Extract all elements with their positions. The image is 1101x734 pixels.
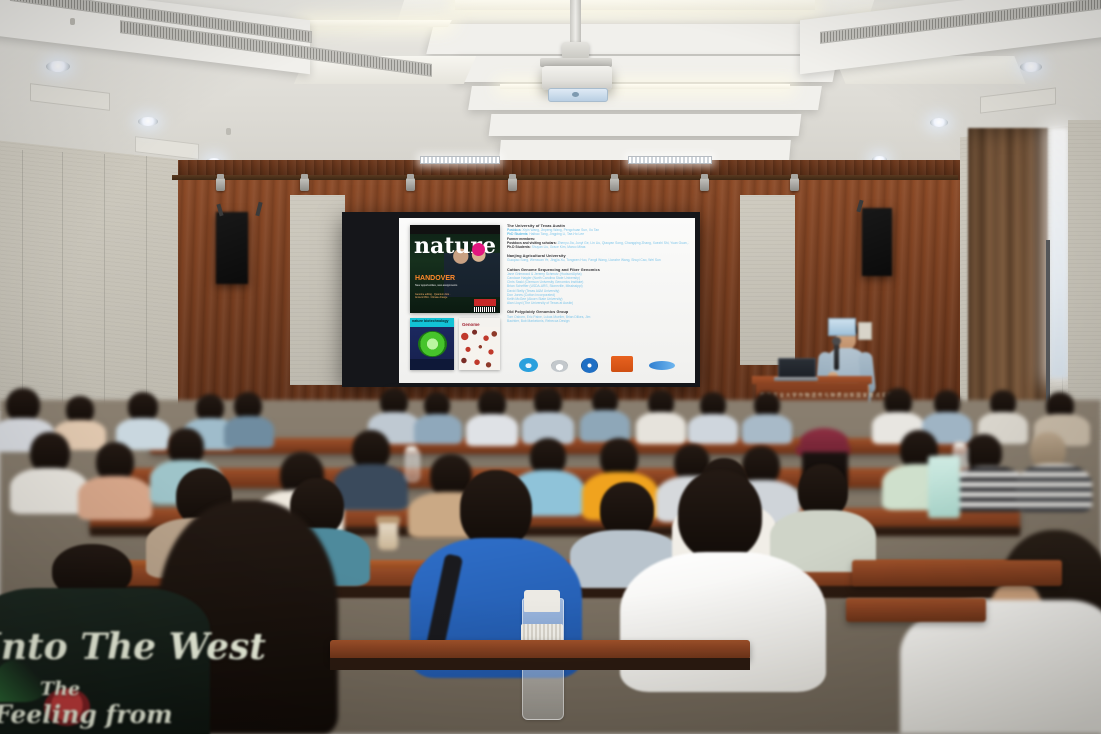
nature-cover-teasers: Genome editing · Quantum dots · Ancient … — [415, 293, 457, 300]
slide-line-text: Bachtier, Bob Markelonis, Rebecca Design — [507, 319, 689, 323]
track-spotlight — [406, 178, 415, 191]
ceiling-cove-light — [455, 0, 815, 10]
foreground-head — [678, 470, 762, 560]
slide-line-text: Shuyan Liu, Grace Kim, Marco Miras — [532, 245, 586, 249]
track-light-rail — [172, 175, 958, 180]
tshirt-text-line2: The — [40, 678, 80, 700]
wall-speaker-left — [216, 212, 248, 284]
track-spotlight — [508, 178, 517, 191]
institution-logo-4 — [611, 356, 633, 372]
cover-artwork — [459, 327, 500, 370]
ceiling-downlight — [930, 118, 948, 127]
track-spotlight — [610, 178, 619, 191]
nature-biotechnology-cover: nature biotechnology — [410, 318, 454, 370]
nature-cover-subhead: New opportunities, new assignments — [415, 284, 461, 288]
lecture-hall-photo: nature HANDOVER New opportunities, new a… — [0, 0, 1101, 734]
projector-mount-bracket — [562, 42, 589, 59]
wall-fabric-strip — [290, 195, 345, 385]
water-bottle-cap-foreground — [524, 590, 560, 612]
projection-screen-surface[interactable]: nature HANDOVER New opportunities, new a… — [399, 218, 695, 383]
track-spotlight — [216, 178, 225, 191]
bench-front-near — [330, 640, 750, 660]
ceiling-slab — [452, 56, 837, 82]
slide-line-text: Haibao Tang, Jingping Li, Tae-Ho Lee — [529, 232, 584, 236]
institution-logo-2 — [551, 360, 568, 372]
handheld-microphone[interactable] — [834, 342, 839, 370]
ceiling-strip-light — [420, 156, 500, 164]
track-spotlight — [790, 178, 799, 191]
tshirt-text-line3: Feeling from — [0, 700, 173, 729]
institution-logo-1 — [519, 358, 538, 372]
nature-cover-headline: HANDOVER — [415, 275, 455, 282]
ceiling-slab — [426, 24, 863, 54]
barcode — [474, 307, 496, 312]
cover-journal-name: nature biotechnology — [412, 319, 449, 323]
institution-logo-3 — [581, 358, 598, 373]
foreground-blouse — [620, 552, 826, 692]
wall-fabric-strip — [740, 195, 795, 365]
water-bottle-cap — [954, 442, 965, 448]
slide-text-column: The University of Texas Austin Postdocs:… — [507, 224, 689, 323]
cover-artwork — [418, 331, 447, 357]
bench-right-near — [852, 560, 1062, 586]
wall-control-panel — [828, 318, 856, 336]
nature-magazine-cover: nature HANDOVER New opportunities, new a… — [410, 225, 500, 313]
ceiling-strip-light — [628, 156, 712, 164]
foreground-head — [460, 470, 532, 548]
slide-line-label: Ph.D Students: — [507, 245, 531, 249]
cover-footer-bar — [410, 359, 454, 370]
ceiling-slab — [468, 86, 822, 110]
ceiling-downlight — [138, 117, 158, 126]
bench-right-near — [846, 598, 986, 622]
sprinkler-head — [70, 18, 75, 25]
audience-head — [6, 388, 40, 422]
institution-logo-5 — [649, 361, 675, 370]
ceiling-cove-light — [298, 20, 452, 27]
window — [1050, 128, 1068, 378]
track-spotlight — [700, 178, 709, 191]
tshirt-text-line1: Into The West — [0, 626, 266, 668]
bench-shadow — [330, 658, 750, 670]
ceiling-downlight — [1020, 62, 1042, 72]
nature-cover-dot — [472, 243, 485, 256]
projector-lens — [572, 92, 579, 97]
projector-mount-pole — [570, 0, 581, 44]
ceiling-slab — [489, 114, 802, 136]
track-spotlight — [300, 178, 309, 191]
genome-research-cover: Genome Research — [459, 318, 500, 370]
projector-body — [542, 66, 612, 90]
microphone-head — [832, 337, 841, 345]
wall-speaker-right — [862, 208, 892, 276]
ceiling-downlight — [46, 61, 70, 72]
sprinkler-head — [226, 128, 231, 135]
wall-switch-plate — [858, 322, 872, 340]
nature-cover-badge — [474, 299, 496, 306]
presentation-slide: nature HANDOVER New opportunities, new a… — [399, 218, 695, 383]
